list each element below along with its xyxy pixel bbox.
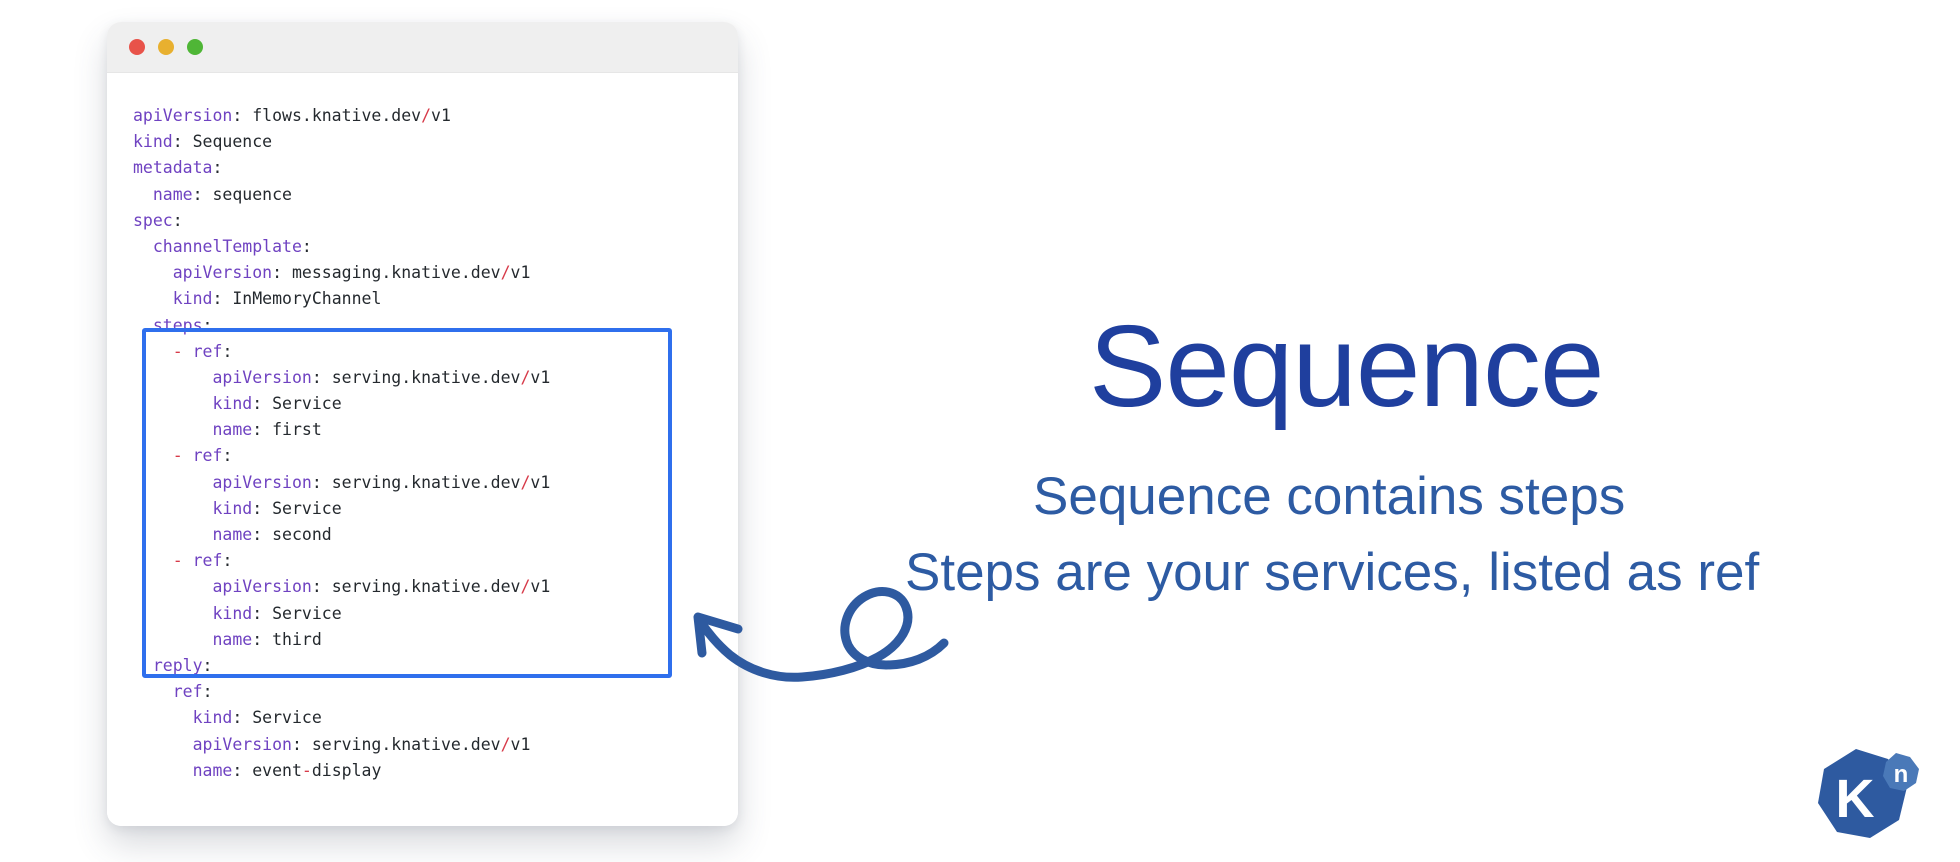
- code-line: kind: InMemoryChannel: [107, 286, 738, 312]
- code-line: apiVersion: serving.knative.dev/v1: [107, 574, 738, 600]
- code-line: apiVersion: serving.knative.dev/v1: [107, 365, 738, 391]
- code-line: name: second: [107, 522, 738, 548]
- code-line: - ref:: [107, 443, 738, 469]
- page-title: Sequence: [1089, 308, 1603, 424]
- code-line: name: event-display: [107, 758, 738, 784]
- code-line: ref:: [107, 679, 738, 705]
- code-line: kind: Sequence: [107, 129, 738, 155]
- maximize-button[interactable]: [187, 39, 203, 55]
- code-line: reply:: [107, 653, 738, 679]
- code-line: apiVersion: serving.knative.dev/v1: [107, 470, 738, 496]
- code-line: apiVersion: flows.knative.dev/v1: [107, 103, 738, 129]
- close-button[interactable]: [129, 39, 145, 55]
- code-line: name: third: [107, 627, 738, 653]
- knative-logo: K n: [1812, 745, 1922, 845]
- code-line: metadata:: [107, 155, 738, 181]
- window-titlebar: [107, 22, 738, 73]
- logo-letter-n: n: [1894, 761, 1909, 788]
- code-line: steps:: [107, 313, 738, 339]
- code-line: apiVersion: messaging.knative.dev/v1: [107, 260, 738, 286]
- code-line: apiVersion: serving.knative.dev/v1: [107, 732, 738, 758]
- code-line: kind: Service: [107, 601, 738, 627]
- subtitle-line-2: Steps are your services, listed as ref: [905, 543, 1759, 602]
- code-body: apiVersion: flows.knative.dev/v1kind: Se…: [107, 73, 738, 826]
- code-line: - ref:: [107, 548, 738, 574]
- code-line: spec:: [107, 208, 738, 234]
- code-editor-window: apiVersion: flows.knative.dev/v1kind: Se…: [107, 22, 738, 826]
- minimize-button[interactable]: [158, 39, 174, 55]
- code-line: channelTemplate:: [107, 234, 738, 260]
- code-line: - ref:: [107, 339, 738, 365]
- yaml-code-block[interactable]: apiVersion: flows.knative.dev/v1kind: Se…: [107, 103, 738, 784]
- code-line: name: sequence: [107, 182, 738, 208]
- code-line: kind: Service: [107, 496, 738, 522]
- code-line: kind: Service: [107, 391, 738, 417]
- subtitle-line-1: Sequence contains steps: [1033, 467, 1625, 526]
- code-line: kind: Service: [107, 705, 738, 731]
- logo-letter-k: K: [1836, 769, 1875, 829]
- curly-arrow-left-icon: [672, 565, 972, 705]
- code-line: name: first: [107, 417, 738, 443]
